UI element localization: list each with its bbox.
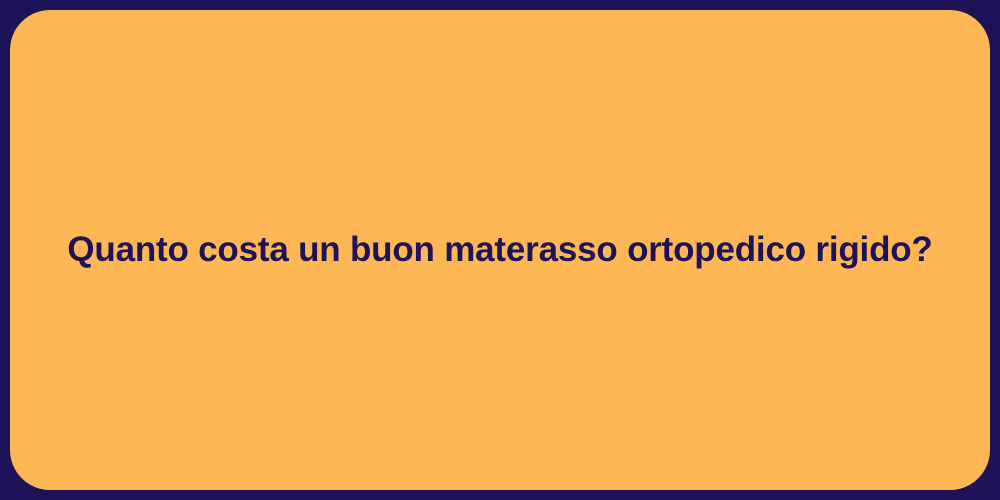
content-card: Quanto costa un buon materasso ortopedic… [10, 10, 990, 490]
page-title: Quanto costa un buon materasso ortopedic… [10, 229, 990, 271]
page-background: Quanto costa un buon materasso ortopedic… [0, 0, 1000, 500]
